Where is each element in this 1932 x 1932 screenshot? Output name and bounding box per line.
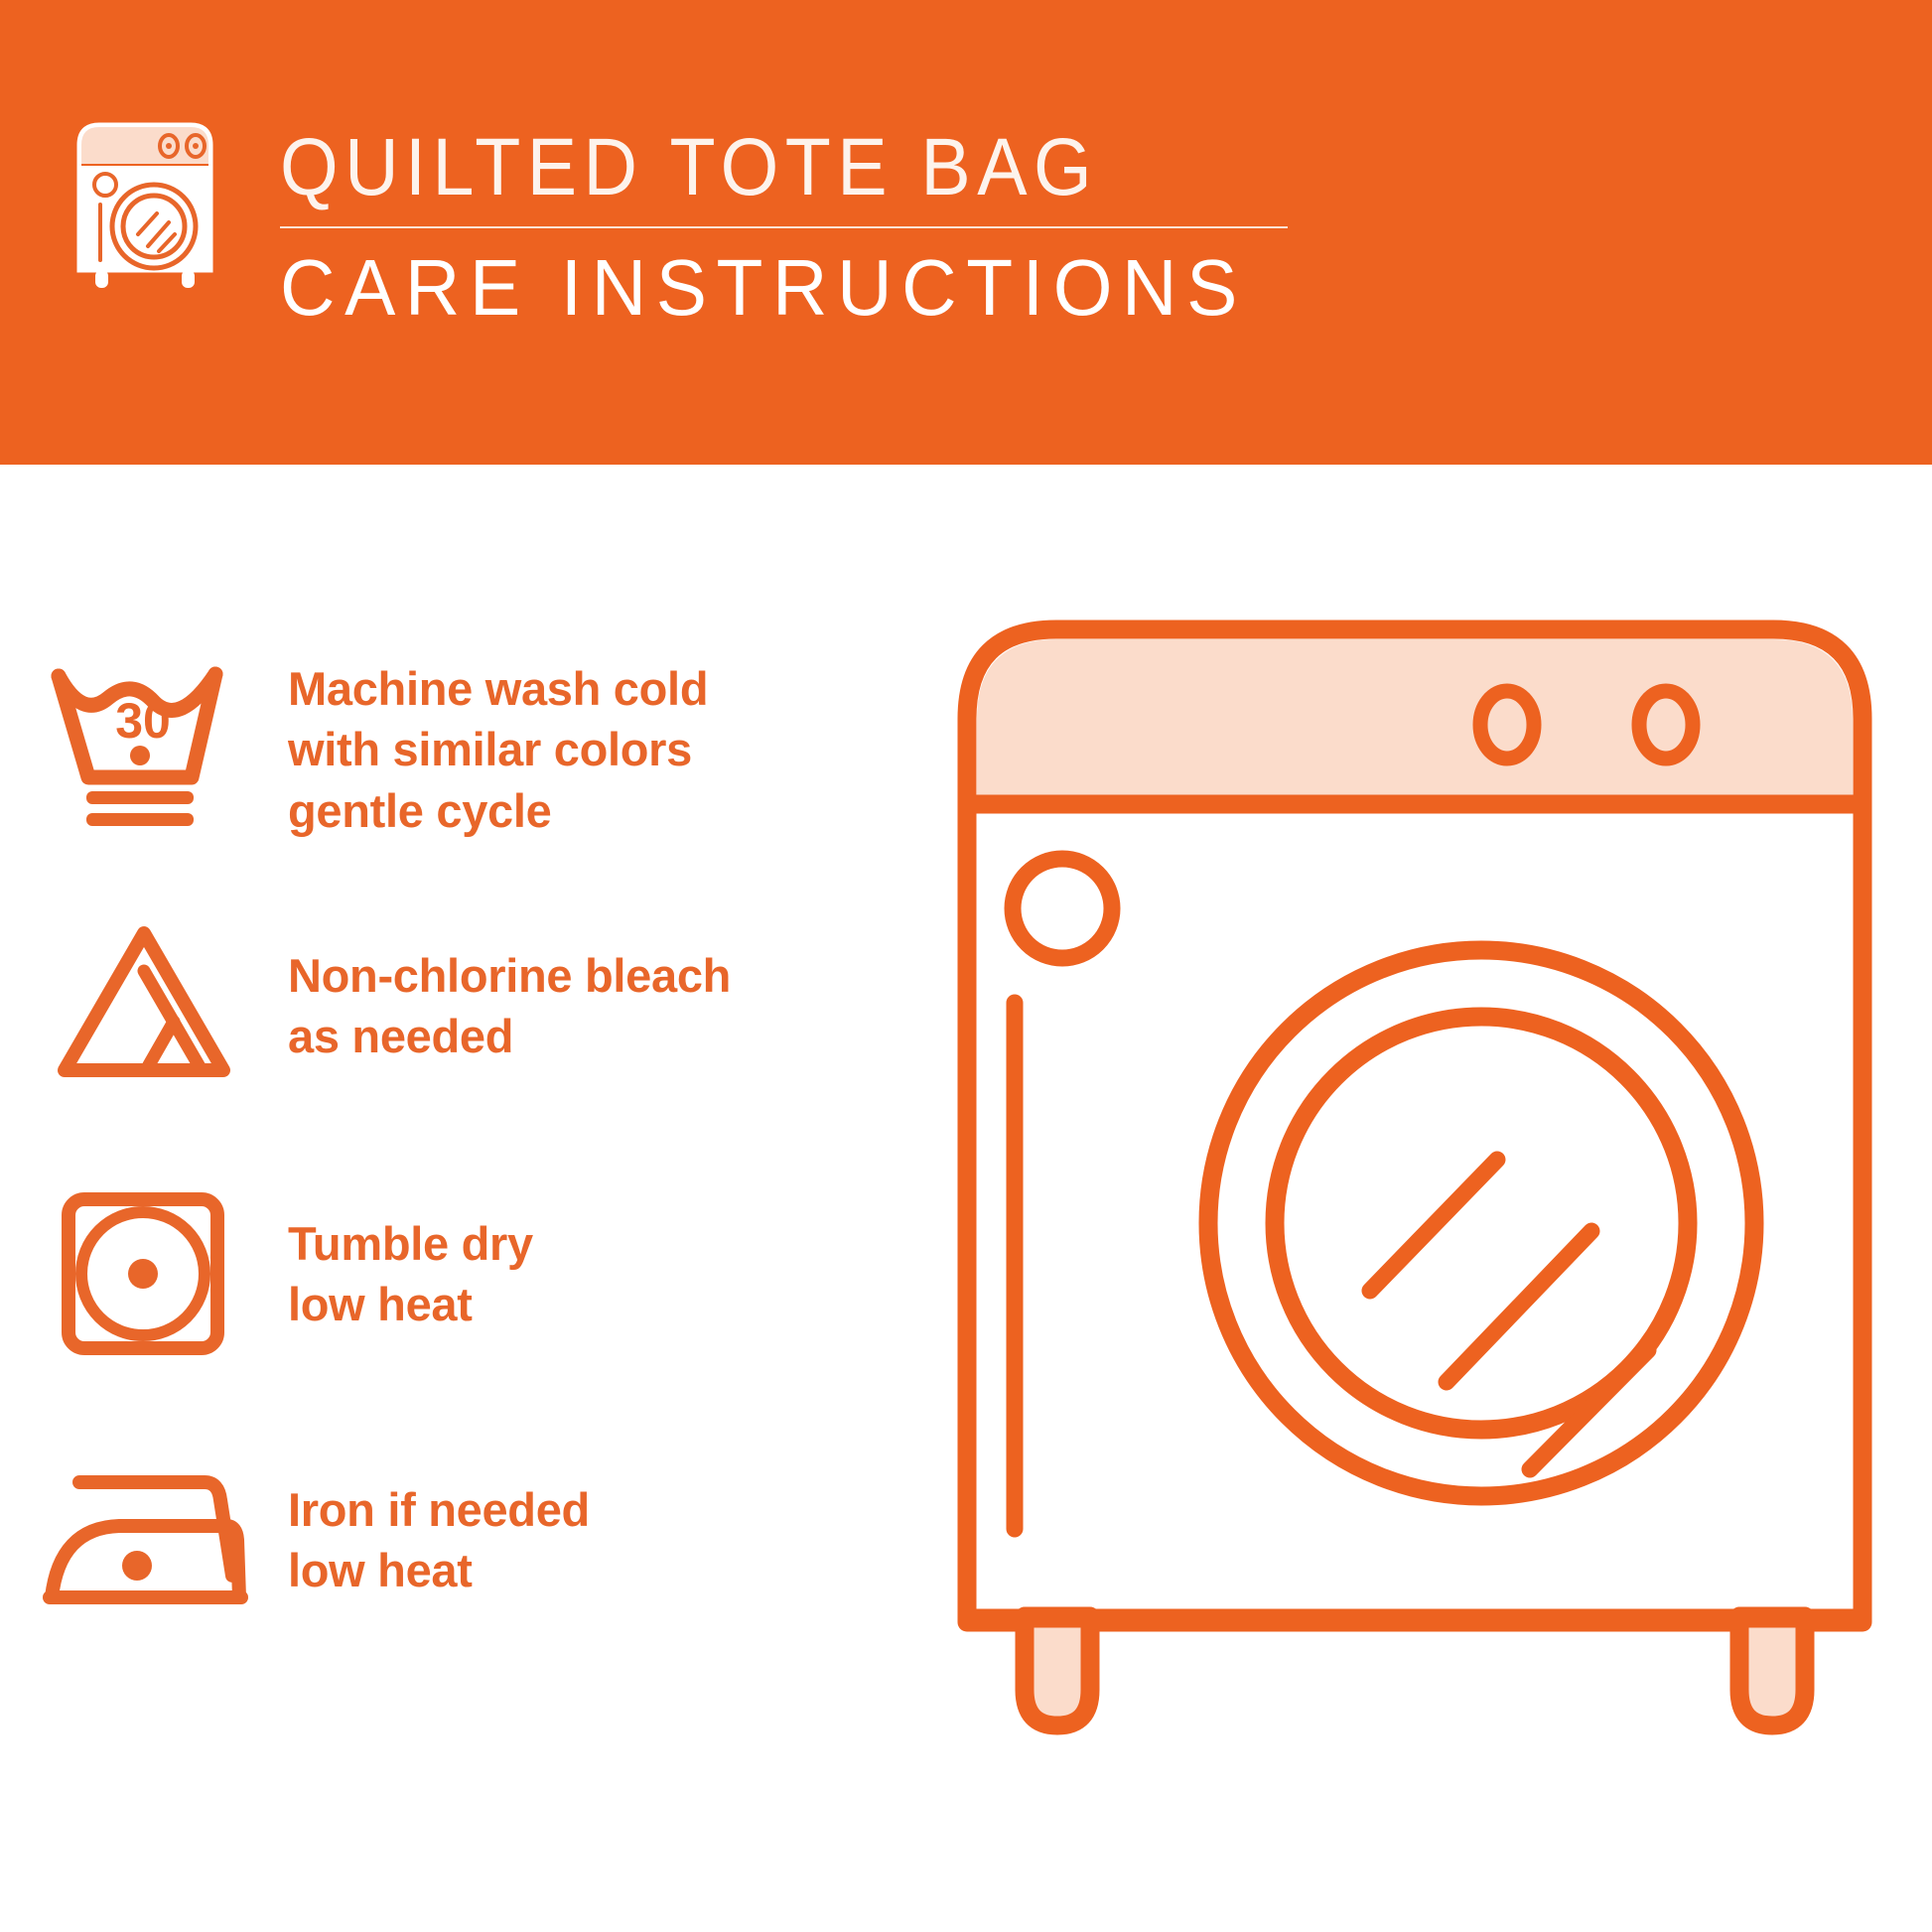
care-label-tumble-dry: Tumble dry low heat — [288, 1213, 533, 1334]
care-row-iron: Iron if needed low heat — [0, 1426, 933, 1654]
care-row-machine-wash: 30 Machine wash cold with similar colors… — [0, 635, 933, 864]
wash-temperature-label: 30 — [115, 693, 171, 749]
machine-wash-30-icon: 30 — [0, 658, 288, 842]
leg-left — [1025, 1616, 1090, 1725]
care-row-tumble-dry: Tumble dry low heat — [0, 1160, 933, 1388]
page-title: QUILTED TOTE BAG — [280, 127, 1248, 208]
washing-machine-logo-icon — [75, 119, 214, 293]
header-title-block: QUILTED TOTE BAG CARE INSTRUCTIONS — [280, 127, 1332, 328]
care-label-iron: Iron if needed low heat — [288, 1479, 590, 1600]
knob-left — [1480, 691, 1534, 759]
header-band: QUILTED TOTE BAG CARE INSTRUCTIONS — [0, 0, 1932, 465]
care-row-bleach: Non-chlorine bleach as needed — [0, 892, 933, 1120]
care-label-bleach: Non-chlorine bleach as needed — [288, 945, 731, 1066]
care-instructions-list: 30 Machine wash cold with similar colors… — [0, 465, 933, 1932]
knob-right — [1639, 691, 1693, 759]
title-divider — [280, 226, 1288, 228]
page-subtitle: CARE INSTRUCTIONS — [280, 248, 1291, 328]
tumble-dry-low-icon — [0, 1187, 288, 1361]
care-label-machine-wash: Machine wash cold with similar colors ge… — [288, 658, 708, 840]
non-chlorine-bleach-triangle-icon — [0, 919, 288, 1093]
iron-low-heat-icon — [0, 1460, 288, 1619]
front-load-washing-machine-illustration — [953, 616, 1876, 1916]
leg-right — [1739, 1616, 1805, 1725]
control-panel — [977, 639, 1853, 804]
